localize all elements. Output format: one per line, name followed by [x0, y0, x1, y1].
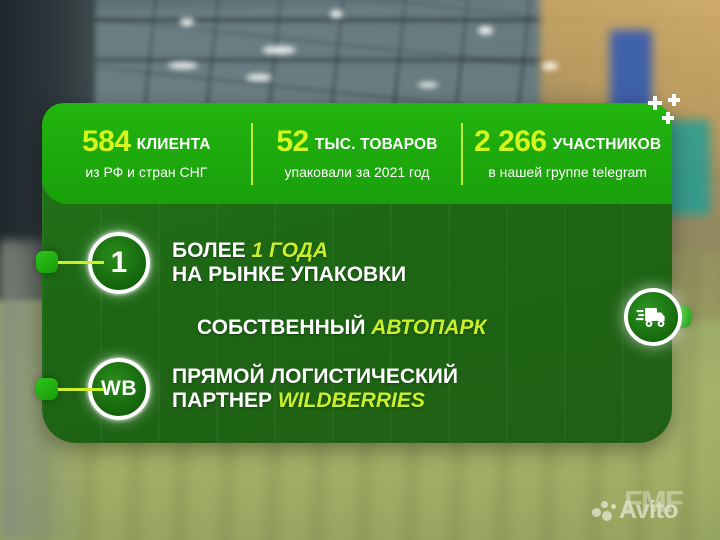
- feature-row-2-text: СОБСТВЕННЫЙ АВТОПАРК: [197, 316, 486, 340]
- stats-bar: 584клиента из РФ и стран СНГ 52тыс. това…: [42, 103, 672, 204]
- stat-divider: [461, 123, 463, 185]
- feature-text-accent: 1 ГОДА: [252, 239, 329, 262]
- stat-unit: тыс. товаров: [315, 136, 438, 153]
- feature-row-1: 1 БОЛЕЕ 1 ГОДА НА РЫНКЕ УПАКОВКИ: [42, 232, 672, 294]
- feature-line-2: НА РЫНКЕ УПАКОВКИ: [172, 263, 406, 287]
- connector-node-icon: [36, 251, 58, 273]
- stat-item-telegram: 2 266участников в нашей группе telegram: [463, 127, 672, 180]
- ceiling-lamp: [180, 18, 194, 26]
- stat-headline: 2 266участников: [467, 127, 668, 157]
- delivery-truck-badge: [624, 288, 682, 346]
- feature-text-accent: АВТОПАРК: [371, 316, 486, 339]
- avito-wordmark: Avito: [619, 496, 678, 525]
- connector-line: [58, 261, 104, 264]
- feature-text-accent: WILDBERRIES: [278, 389, 425, 412]
- feature-text-plain: ПРЯМОЙ ЛОГИСТИЧЕСКИЙ: [172, 365, 458, 388]
- badge-label: WB: [101, 377, 137, 401]
- feature-text-plain: НА РЫНКЕ УПАКОВКИ: [172, 263, 406, 286]
- stat-unit: клиента: [137, 136, 211, 153]
- ceiling-lamp: [418, 82, 438, 88]
- connector-row-3: [36, 378, 104, 400]
- feature-line-1: ПРЯМОЙ ЛОГИСТИЧЕСКИЙ: [172, 365, 458, 389]
- ceiling-lamp: [478, 26, 493, 35]
- avito-logo: Avito: [592, 496, 678, 525]
- ceiling-lamp: [168, 62, 198, 69]
- feature-row-1-text: БОЛЕЕ 1 ГОДА НА РЫНКЕ УПАКОВКИ: [172, 239, 406, 286]
- ceiling-lamp: [542, 62, 558, 70]
- stat-headline: 584клиента: [46, 127, 247, 157]
- feature-row-3: WB ПРЯМОЙ ЛОГИСТИЧЕСКИЙ ПАРТНЕР WILDBERR…: [42, 358, 672, 420]
- stat-subtitle: упаковали за 2021 год: [257, 164, 458, 180]
- connector-node-icon: [36, 378, 58, 400]
- connector-row-1: [36, 251, 104, 273]
- badge-label: 1: [111, 246, 128, 280]
- ceiling-lamp: [330, 10, 343, 18]
- feature-text-plain: БОЛЕЕ: [172, 239, 252, 262]
- feature-row-3-text: ПРЯМОЙ ЛОГИСТИЧЕСКИЙ ПАРТНЕР WILDBERRIES: [172, 365, 458, 412]
- stat-subtitle: в нашей группе telegram: [467, 164, 668, 180]
- feature-row-2: СОБСТВЕННЫЙ АВТОПАРК: [42, 316, 672, 340]
- ceiling-lamp: [262, 46, 296, 54]
- stat-subtitle: из РФ и стран СНГ: [46, 164, 247, 180]
- avito-dots-icon: [592, 499, 618, 523]
- ceiling-lamp: [246, 74, 272, 81]
- feature-text-plain: СОБСТВЕННЫЙ: [197, 316, 371, 339]
- info-card: 584клиента из РФ и стран СНГ 52тыс. това…: [42, 103, 672, 443]
- feature-rows: 1 БОЛЕЕ 1 ГОДА НА РЫНКЕ УПАКОВКИ СОБСТВЕ…: [42, 204, 672, 420]
- feature-line-1: БОЛЕЕ 1 ГОДА: [172, 239, 406, 263]
- stat-divider: [251, 123, 253, 185]
- stat-headline: 52тыс. товаров: [257, 127, 458, 157]
- delivery-truck-icon: [636, 305, 670, 329]
- connector-line: [58, 388, 104, 391]
- feature-text-plain: ПАРТНЕР: [172, 389, 278, 412]
- stat-item-clients: 584клиента из РФ и стран СНГ: [42, 127, 251, 180]
- stat-number: 2 266: [474, 125, 547, 158]
- stat-item-goods: 52тыс. товаров упаковали за 2021 год: [253, 127, 462, 180]
- feature-line-1: СОБСТВЕННЫЙ АВТОПАРК: [197, 316, 486, 340]
- watermark: FMF Avito: [592, 482, 710, 532]
- stat-unit: участников: [553, 136, 662, 153]
- feature-line-2: ПАРТНЕР WILDBERRIES: [172, 389, 458, 413]
- stat-number: 584: [82, 125, 131, 158]
- stat-number: 52: [276, 125, 308, 158]
